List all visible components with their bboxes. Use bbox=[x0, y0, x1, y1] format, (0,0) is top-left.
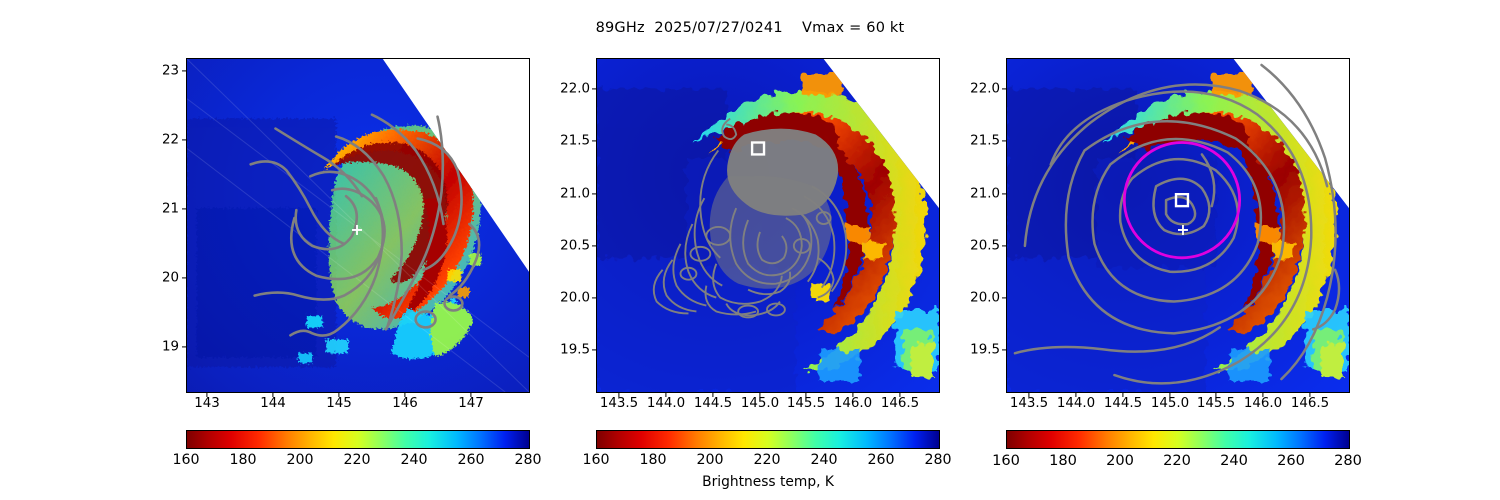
colorbar-combined[interactable] bbox=[1006, 430, 1350, 449]
panel-combined-score[interactable]: Combined score contours bbox=[1006, 58, 1350, 393]
panel-spiral-plot bbox=[187, 59, 529, 392]
colorbar-axis-label: Brightness temp, K bbox=[702, 474, 834, 490]
panel-spiral-score[interactable]: Spiral score contours, alpha = 6.2 bbox=[186, 58, 530, 393]
colorbar-spiral[interactable] bbox=[186, 430, 530, 449]
panel-ring-score[interactable]: Ring score contours bbox=[596, 58, 940, 393]
panel-combined-plot bbox=[1007, 59, 1349, 392]
figure-canvas: 89GHz 2025/07/27/0241 Vmax = 60 kt Spira… bbox=[0, 0, 1500, 500]
panel-ring-plot bbox=[597, 59, 939, 392]
colorbar-ring[interactable] bbox=[596, 430, 940, 449]
figure-suptitle: 89GHz 2025/07/27/0241 Vmax = 60 kt bbox=[0, 20, 1500, 36]
